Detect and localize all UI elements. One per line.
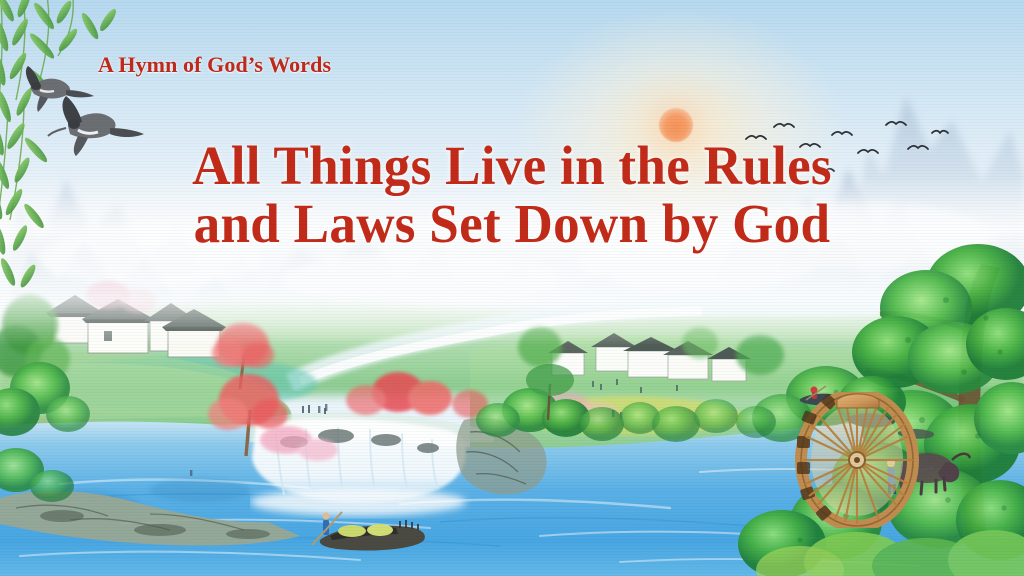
water-wheel (795, 392, 920, 528)
title-card: A Hymn of God’s Words All Things Live in… (0, 0, 1024, 576)
page-title: All Things Live in the Rules and Laws Se… (0, 138, 1024, 252)
subtitle: A Hymn of God’s Words (98, 52, 331, 78)
title-line-1: All Things Live in the Rules (18, 138, 1006, 195)
title-line-2: and Laws Set Down by God (18, 196, 1006, 253)
